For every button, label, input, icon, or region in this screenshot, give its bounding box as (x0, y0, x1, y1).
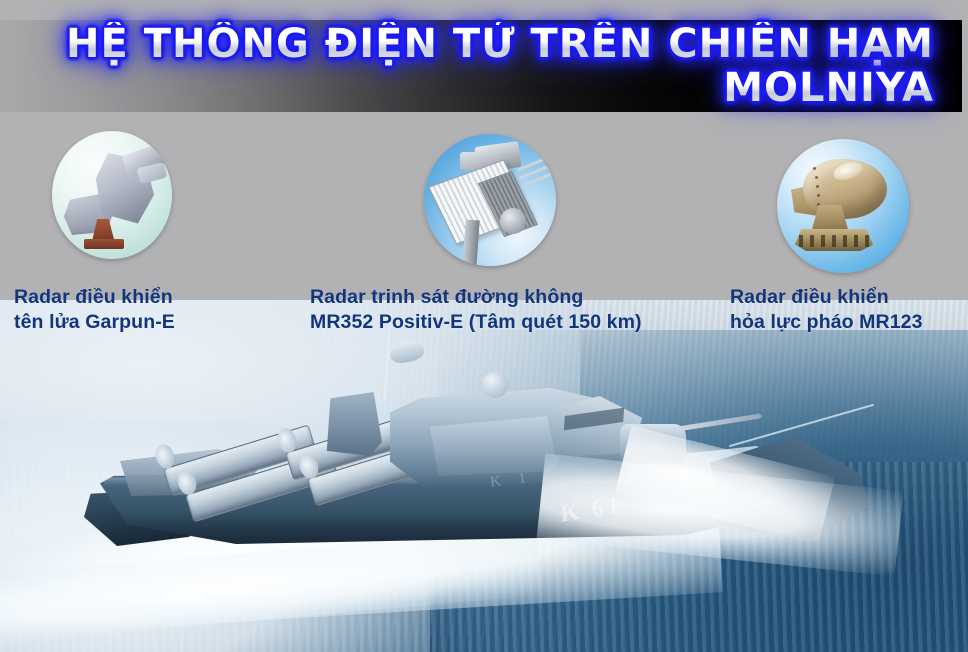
radar-thumbnail-mr352-positiv-e (424, 134, 556, 266)
radome-bolt (817, 194, 820, 197)
page-title-line-2: MOLNIYA (0, 66, 934, 110)
warship-photo: K 1 K 61 (0, 300, 968, 652)
caption-line-2: MR352 Positiv-E (Tâm quét 150 km) (310, 310, 642, 335)
caption-line-2: tên lửa Garpun-E (14, 310, 175, 335)
page-title-line-1: HỆ THỐNG ĐIỆN TỬ TRÊN CHIẾN HẠM (0, 22, 934, 66)
caption-line-1: Radar điều khiển (14, 285, 175, 310)
radar-yagi-antenna-icon (517, 155, 552, 171)
radar-thumbnail-garpun-e (52, 131, 172, 259)
radar-caption-mr123: Radar điều khiển hỏa lực pháo MR123 (730, 285, 923, 335)
caption-line-1: Radar trinh sát đường không (310, 285, 642, 310)
infographic-canvas: K 1 K 61 HỆ THỐNG ĐIỆN TỬ TRÊN CHIẾN HẠM… (0, 0, 968, 652)
radar-mount-plinth (84, 239, 124, 249)
radome-bolt (816, 185, 819, 188)
radome-baseplate-slots (799, 235, 869, 247)
radome-bolt (815, 176, 818, 179)
caption-line-2: hỏa lực pháo MR123 (730, 310, 923, 335)
ship-antenna-dish-icon (388, 339, 425, 366)
ship-radome-icon (482, 372, 508, 398)
ship-gun-barrel (676, 413, 762, 431)
radar-caption-mr352-positiv-e: Radar trinh sát đường không MR352 Positi… (310, 285, 642, 335)
radar-pivot-joint (500, 208, 526, 234)
page-title: HỆ THỐNG ĐIỆN TỬ TRÊN CHIẾN HẠM MOLNIYA (0, 22, 962, 112)
radar-thumbnail-mr123 (777, 139, 909, 273)
ship-funnel (322, 392, 382, 456)
radome-bolt (813, 167, 816, 170)
caption-line-1: Radar điều khiển (730, 285, 923, 310)
radar-caption-garpun-e: Radar điều khiển tên lửa Garpun-E (14, 285, 175, 335)
radar-mast-column (462, 220, 479, 266)
